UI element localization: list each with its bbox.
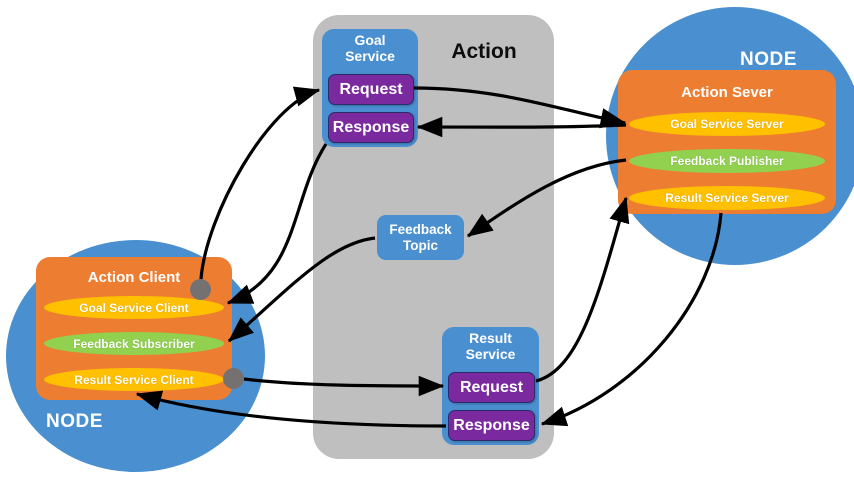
action-server-title: Action Sever — [618, 85, 836, 100]
diagram-canvas: Action NODE Action Sever Goal Service Se… — [0, 0, 854, 480]
pill-result-service-client[interactable]: Result Service Client — [44, 368, 224, 391]
server-node-label: NODE — [740, 50, 830, 69]
pill-feedback-publisher[interactable]: Feedback Publisher — [629, 149, 825, 173]
goal-service-request[interactable]: Request — [328, 74, 414, 105]
result-service-title-line2: Service — [466, 346, 516, 362]
result-service-request[interactable]: Request — [448, 372, 535, 403]
result-service-response[interactable]: Response — [448, 410, 535, 441]
result-client-connector-dot — [223, 368, 244, 389]
feedback-topic-line2: Topic — [403, 238, 438, 253]
goal-service-title: Goal Service — [322, 33, 418, 64]
pill-goal-service-server[interactable]: Goal Service Server — [629, 112, 825, 136]
pill-result-service-server[interactable]: Result Service Server — [629, 186, 825, 210]
goal-service-title-line2: Service — [345, 48, 395, 64]
action-container-title: Action — [428, 41, 540, 62]
goal-service-response[interactable]: Response — [328, 112, 414, 143]
result-service-title-line1: Result — [469, 330, 512, 346]
pill-feedback-subscriber[interactable]: Feedback Subscriber — [44, 332, 224, 355]
feedback-topic-line1: Feedback — [389, 222, 451, 237]
result-service-title: Result Service — [442, 331, 539, 362]
arrow-goal-client-to-request — [201, 90, 319, 279]
goal-service-title-line1: Goal — [354, 32, 385, 48]
goal-client-connector-dot — [190, 279, 211, 300]
arrow-response-to-goal-client — [228, 144, 326, 303]
feedback-topic-box[interactable]: Feedback Topic — [377, 215, 464, 260]
client-node-label: NODE — [46, 412, 136, 431]
